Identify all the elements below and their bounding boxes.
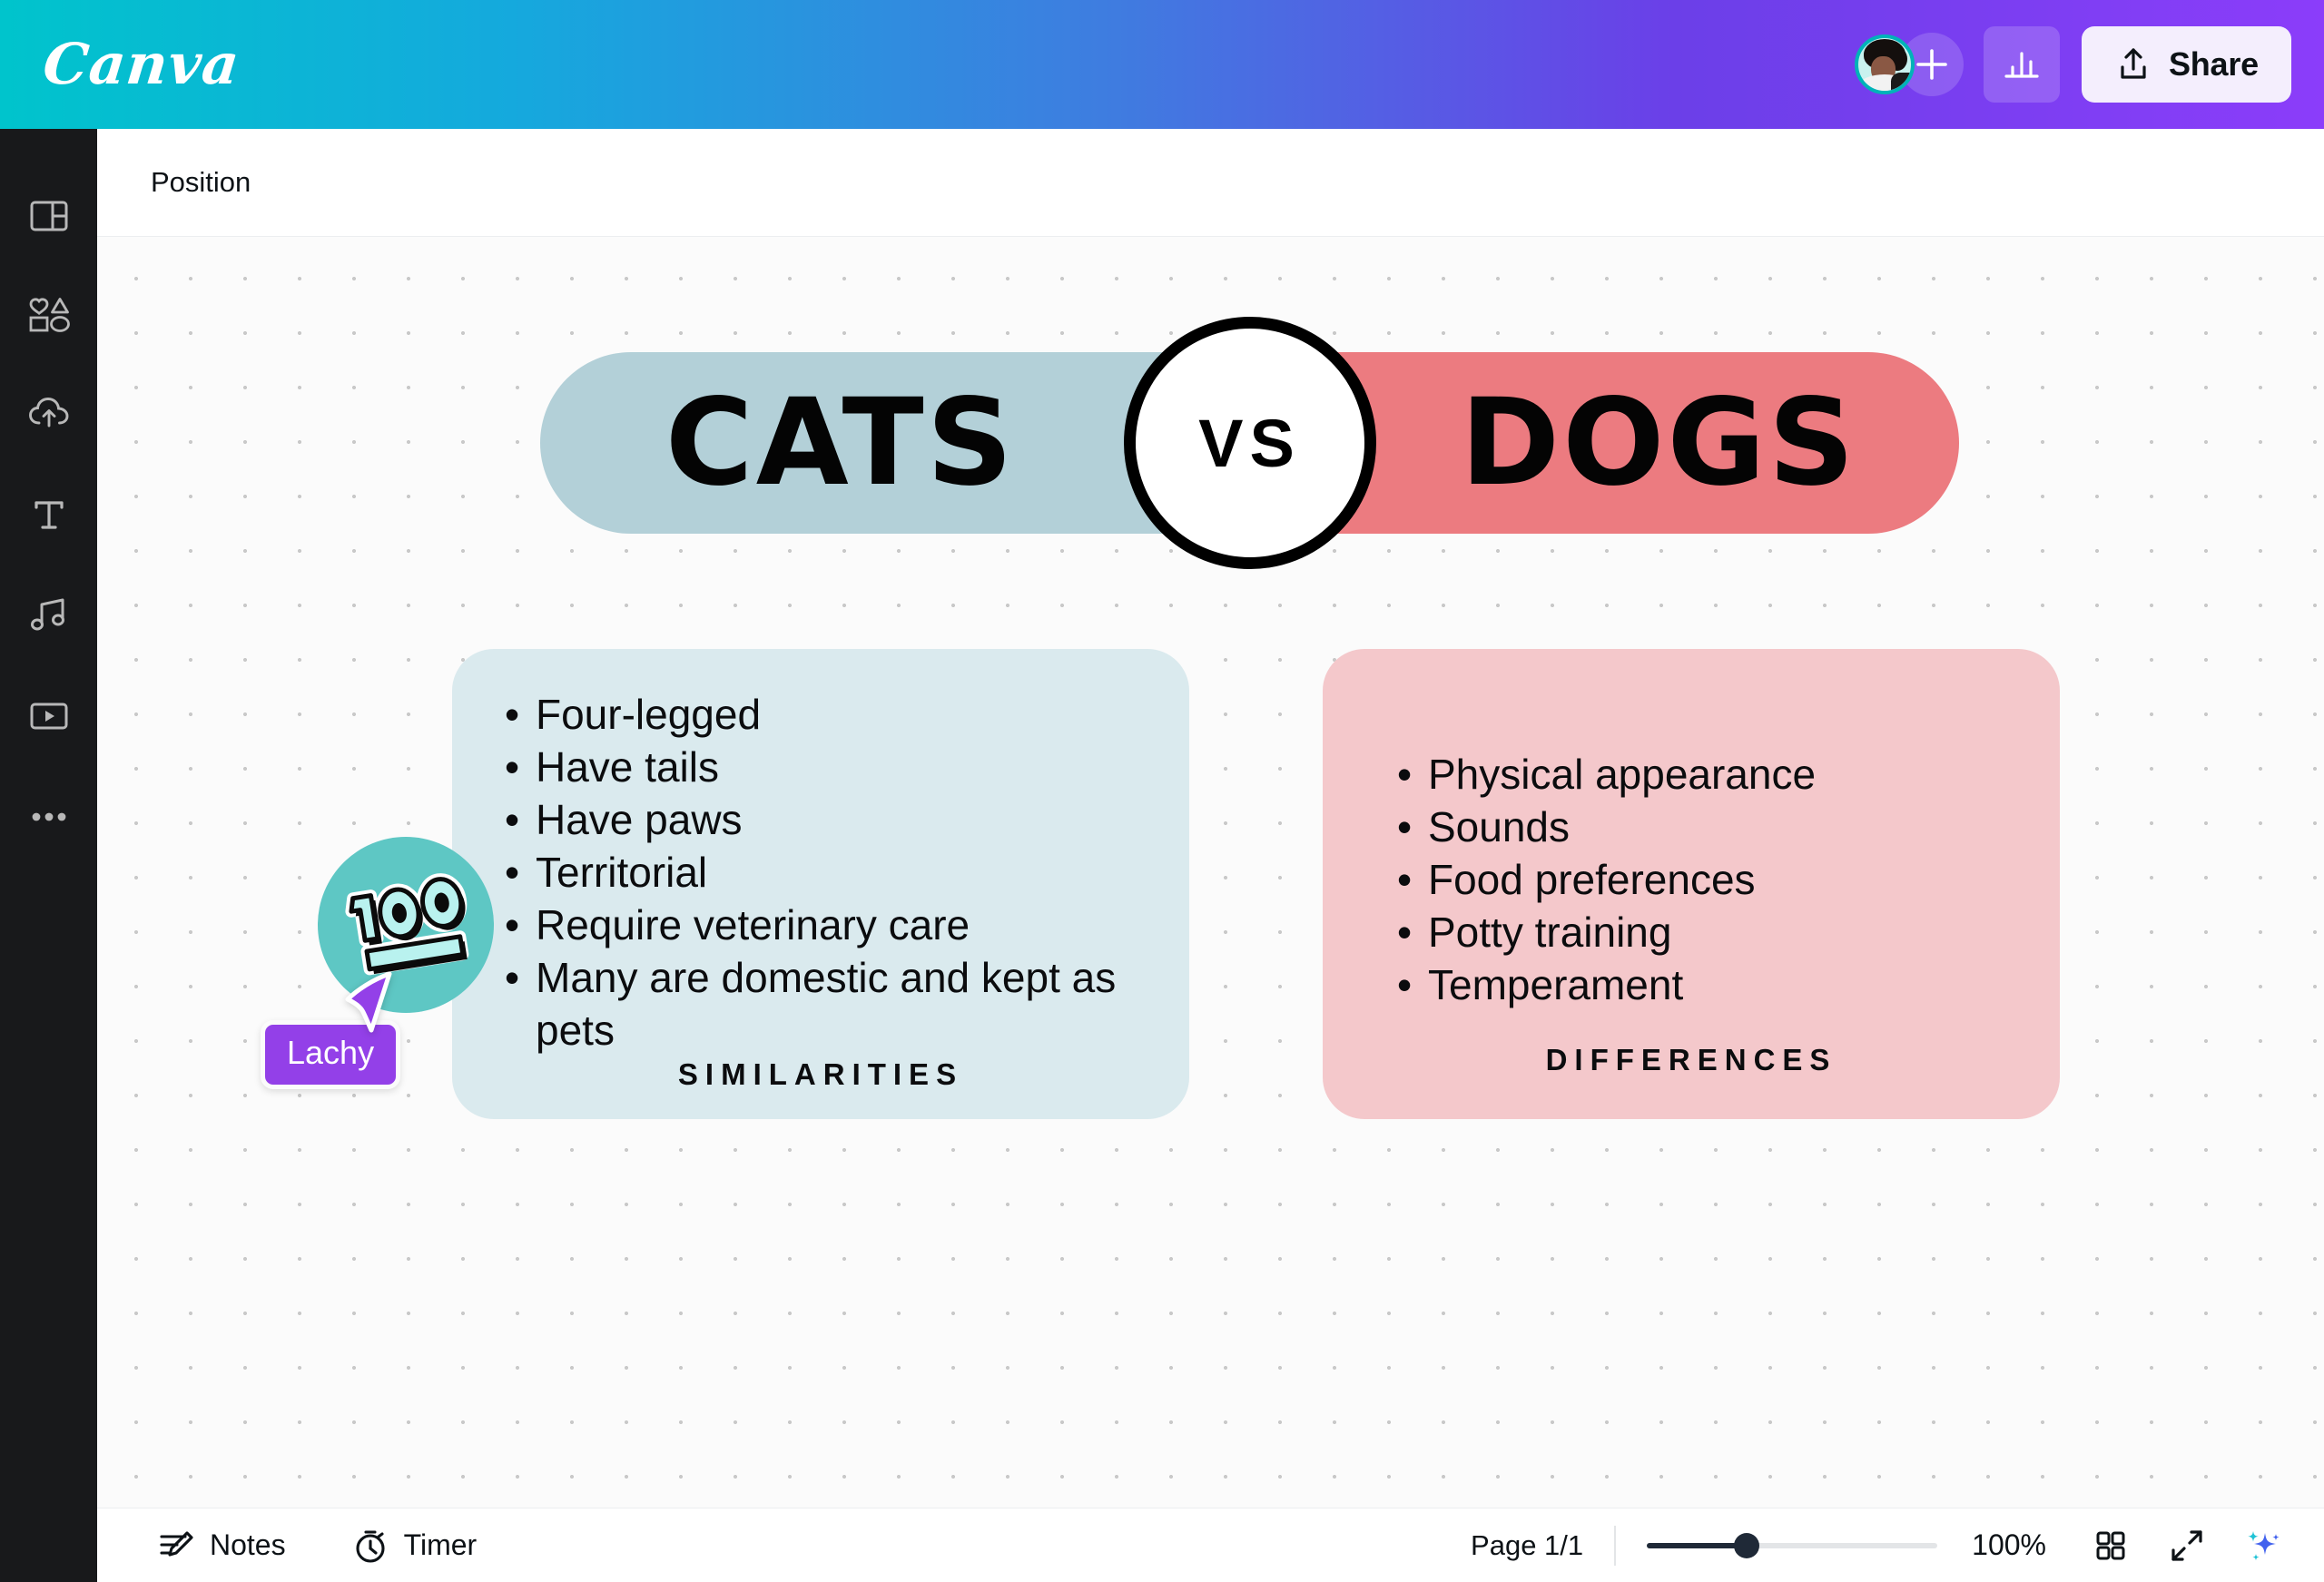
top-bar-actions: Share: [1855, 0, 2291, 129]
grid-view-button[interactable]: [2083, 1518, 2139, 1574]
design-canvas[interactable]: CATS DOGS VS • Four-legged • Have tails …: [97, 237, 2324, 1508]
zoom-slider-knob[interactable]: [1734, 1533, 1759, 1558]
zoom-slider[interactable]: [1647, 1532, 1937, 1559]
sidebar-item-uploads[interactable]: [0, 365, 97, 462]
list-item: • Physical appearance: [1397, 749, 2007, 801]
bullet-icon: •: [505, 689, 536, 742]
share-button[interactable]: Share: [2082, 26, 2291, 103]
page-indicator: Page 1/1: [1471, 1529, 1583, 1562]
title-banner[interactable]: CATS DOGS VS: [540, 352, 1959, 534]
differences-title: DIFFERENCES: [1323, 1043, 2060, 1119]
sidebar-item-text[interactable]: [0, 466, 97, 563]
magic-sparkle-icon: [2243, 1526, 2283, 1566]
cursor-arrow-icon: [337, 967, 397, 1034]
timer-stopwatch-icon: [351, 1527, 389, 1565]
list-item-label: Sounds: [1428, 801, 2007, 854]
list-item-label: Have tails: [536, 742, 1137, 794]
sidebar-item-elements[interactable]: [0, 266, 97, 363]
elements-shapes-icon: [24, 291, 74, 339]
bullet-icon: •: [1397, 749, 1428, 801]
collaborator-cursor: [337, 967, 397, 1034]
bullet-icon: •: [505, 899, 536, 952]
list-item: • Have tails: [505, 742, 1137, 794]
list-item: • Temperament: [1397, 959, 2007, 1012]
divider: [1614, 1526, 1616, 1566]
position-button[interactable]: Position: [151, 166, 251, 199]
notes-button[interactable]: Notes: [141, 1517, 302, 1575]
vs-circle: VS: [1124, 317, 1376, 569]
grid-view-icon: [2093, 1528, 2129, 1564]
notes-label: Notes: [210, 1528, 286, 1562]
music-note-icon: [25, 593, 73, 638]
editor-toolbar: Position: [97, 129, 2324, 237]
vs-label: VS: [1198, 405, 1301, 482]
list-item-label: Potty training: [1428, 907, 2007, 959]
top-bar: Canva: [0, 0, 2324, 129]
ellipsis-icon: [25, 804, 73, 830]
list-item-label: Many are domestic and kept as pets: [536, 952, 1137, 1057]
zoom-slider-fill: [1647, 1543, 1745, 1548]
list-item-label: Require veterinary care: [536, 899, 1137, 952]
similarities-card[interactable]: • Four-legged • Have tails • Have paws •…: [452, 649, 1189, 1119]
bullet-icon: •: [505, 794, 536, 847]
bullet-icon: •: [1397, 854, 1428, 907]
magic-studio-button[interactable]: [2235, 1518, 2291, 1574]
insights-button[interactable]: [1984, 26, 2060, 103]
fullscreen-icon: [2168, 1527, 2206, 1565]
bullet-icon: •: [505, 742, 536, 794]
list-item: • Require veterinary care: [505, 899, 1137, 952]
list-item: • Have paws: [505, 794, 1137, 847]
timer-label: Timer: [404, 1528, 478, 1562]
notes-pencil-icon: [157, 1527, 195, 1565]
list-item-label: Four-legged: [536, 689, 1137, 742]
zoom-level: 100%: [1972, 1528, 2046, 1562]
list-item: • Food preferences: [1397, 854, 2007, 907]
differences-list: • Physical appearance • Sounds • Food pr…: [1323, 649, 2060, 1043]
plus-icon: [1912, 44, 1952, 84]
list-item-label: Physical appearance: [1428, 749, 2007, 801]
list-item: • Territorial: [505, 847, 1137, 899]
similarities-title: SIMILARITIES: [452, 1057, 1189, 1134]
sidebar-item-videos[interactable]: [0, 667, 97, 764]
list-item: • Four-legged: [505, 689, 1137, 742]
bullet-icon: •: [505, 952, 536, 1005]
list-item-label: Have paws: [536, 794, 1137, 847]
differences-card[interactable]: • Physical appearance • Sounds • Food pr…: [1323, 649, 2060, 1119]
bullet-icon: •: [1397, 959, 1428, 1012]
sidebar-item-more[interactable]: [0, 768, 97, 865]
canva-logo[interactable]: Canva: [41, 36, 242, 93]
timer-button[interactable]: Timer: [335, 1517, 494, 1575]
fullscreen-button[interactable]: [2159, 1518, 2215, 1574]
video-play-icon: [25, 693, 74, 739]
text-t-icon: [27, 492, 71, 537]
sidebar-item-audio[interactable]: [0, 566, 97, 663]
share-upload-icon: [2114, 45, 2152, 84]
list-item-label: Temperament: [1428, 959, 2007, 1012]
collaborator-avatars: [1855, 33, 1964, 96]
banner-word-cats: CATS: [665, 383, 1016, 503]
cloud-upload-icon: [25, 390, 74, 437]
left-sidebar: [0, 129, 97, 1582]
bottom-bar: Notes Timer Page 1/1 100%: [97, 1508, 2324, 1582]
share-label: Share: [2169, 45, 2259, 84]
similarities-list: • Four-legged • Have tails • Have paws •…: [452, 649, 1189, 1057]
bullet-icon: •: [1397, 801, 1428, 854]
sidebar-item-design[interactable]: [0, 167, 97, 264]
bullet-icon: •: [505, 847, 536, 899]
list-item: • Potty training: [1397, 907, 2007, 959]
list-item: • Sounds: [1397, 801, 2007, 854]
banner-word-dogs: DOGS: [1461, 383, 1857, 503]
bottom-bar-right: Page 1/1 100%: [1471, 1518, 2291, 1574]
bullet-icon: •: [1397, 907, 1428, 959]
hundred-emoji-icon: [338, 870, 474, 979]
avatar[interactable]: [1855, 34, 1915, 94]
list-item: • Many are domestic and kept as pets: [505, 952, 1137, 1057]
list-item-label: Territorial: [536, 847, 1137, 899]
bar-chart-icon: [2001, 44, 2043, 85]
design-panels-icon: [25, 192, 73, 240]
list-item-label: Food preferences: [1428, 854, 2007, 907]
